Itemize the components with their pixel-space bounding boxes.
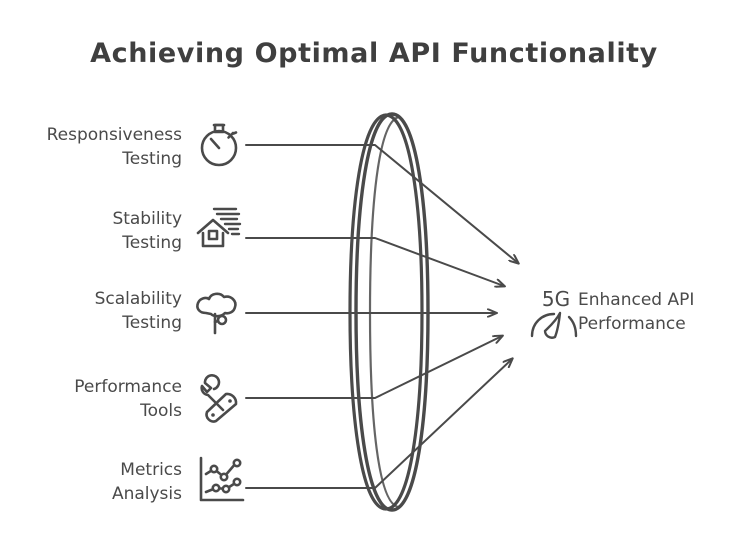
cloud-icon bbox=[190, 285, 246, 341]
input-label-stability: Stability Testing bbox=[20, 207, 182, 255]
input-label-scalability: Scalability Testing bbox=[20, 287, 182, 335]
stopwatch-icon bbox=[192, 116, 248, 172]
house-signal-icon bbox=[192, 201, 248, 257]
input-label-responsiveness: Responsiveness Testing bbox=[20, 123, 182, 171]
line-chart-icon bbox=[192, 452, 248, 508]
wrench-tools-icon bbox=[190, 372, 246, 428]
connector-stability bbox=[246, 238, 504, 286]
connector-performance bbox=[246, 336, 502, 398]
connector-responsiveness bbox=[246, 145, 518, 263]
input-label-performance-tools: Performance Tools bbox=[20, 375, 182, 423]
input-label-metrics: Metrics Analysis bbox=[20, 458, 182, 506]
connector-group bbox=[246, 145, 518, 488]
outcome-label: Enhanced API Performance bbox=[578, 288, 738, 336]
five-g-badge-text: 5G bbox=[542, 287, 570, 311]
